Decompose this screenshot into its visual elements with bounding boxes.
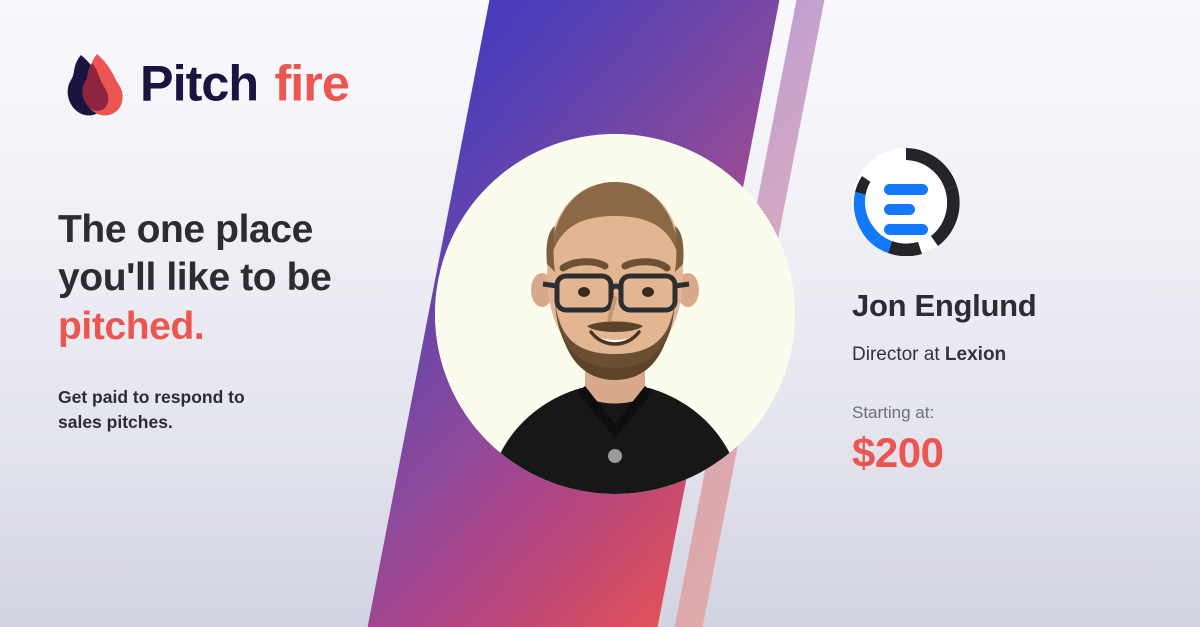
subheadline-line-2: sales pitches. xyxy=(58,412,173,432)
headline-line-1: The one place xyxy=(58,208,313,251)
company-name: Lexion xyxy=(945,344,1006,365)
lexion-logo-icon[interactable] xyxy=(852,148,960,256)
pitchfire-promo-card: Pitch fire The one place you'll like to … xyxy=(0,0,1200,627)
pitchfire-wordmark: Pitch fire xyxy=(140,56,403,116)
price-label: Starting at: xyxy=(852,403,1162,423)
subheadline-line-1: Get paid to respond to xyxy=(58,387,245,407)
price-value: $200 xyxy=(852,429,1162,477)
profile-panel: Jon Englund Director at Lexion Starting … xyxy=(852,148,1162,477)
svg-text:fire: fire xyxy=(275,56,349,112)
person-name: Jon Englund xyxy=(852,288,1162,324)
pitchfire-logo[interactable]: Pitch fire xyxy=(58,48,428,124)
headline-line-2: you'll like to be xyxy=(58,256,331,299)
avatar-portrait xyxy=(435,134,795,494)
headline-accent-word: pitched. xyxy=(58,305,204,348)
person-role: Director at Lexion xyxy=(852,344,1162,366)
avatar xyxy=(435,134,795,494)
hero-left-column: Pitch fire The one place you'll like to … xyxy=(58,48,428,435)
headline: The one place you'll like to be pitched. xyxy=(58,206,428,351)
flame-icon xyxy=(58,52,130,120)
svg-text:Pitch: Pitch xyxy=(140,56,258,112)
role-title: Director at xyxy=(852,344,945,365)
subheadline: Get paid to respond to sales pitches. xyxy=(58,385,428,435)
